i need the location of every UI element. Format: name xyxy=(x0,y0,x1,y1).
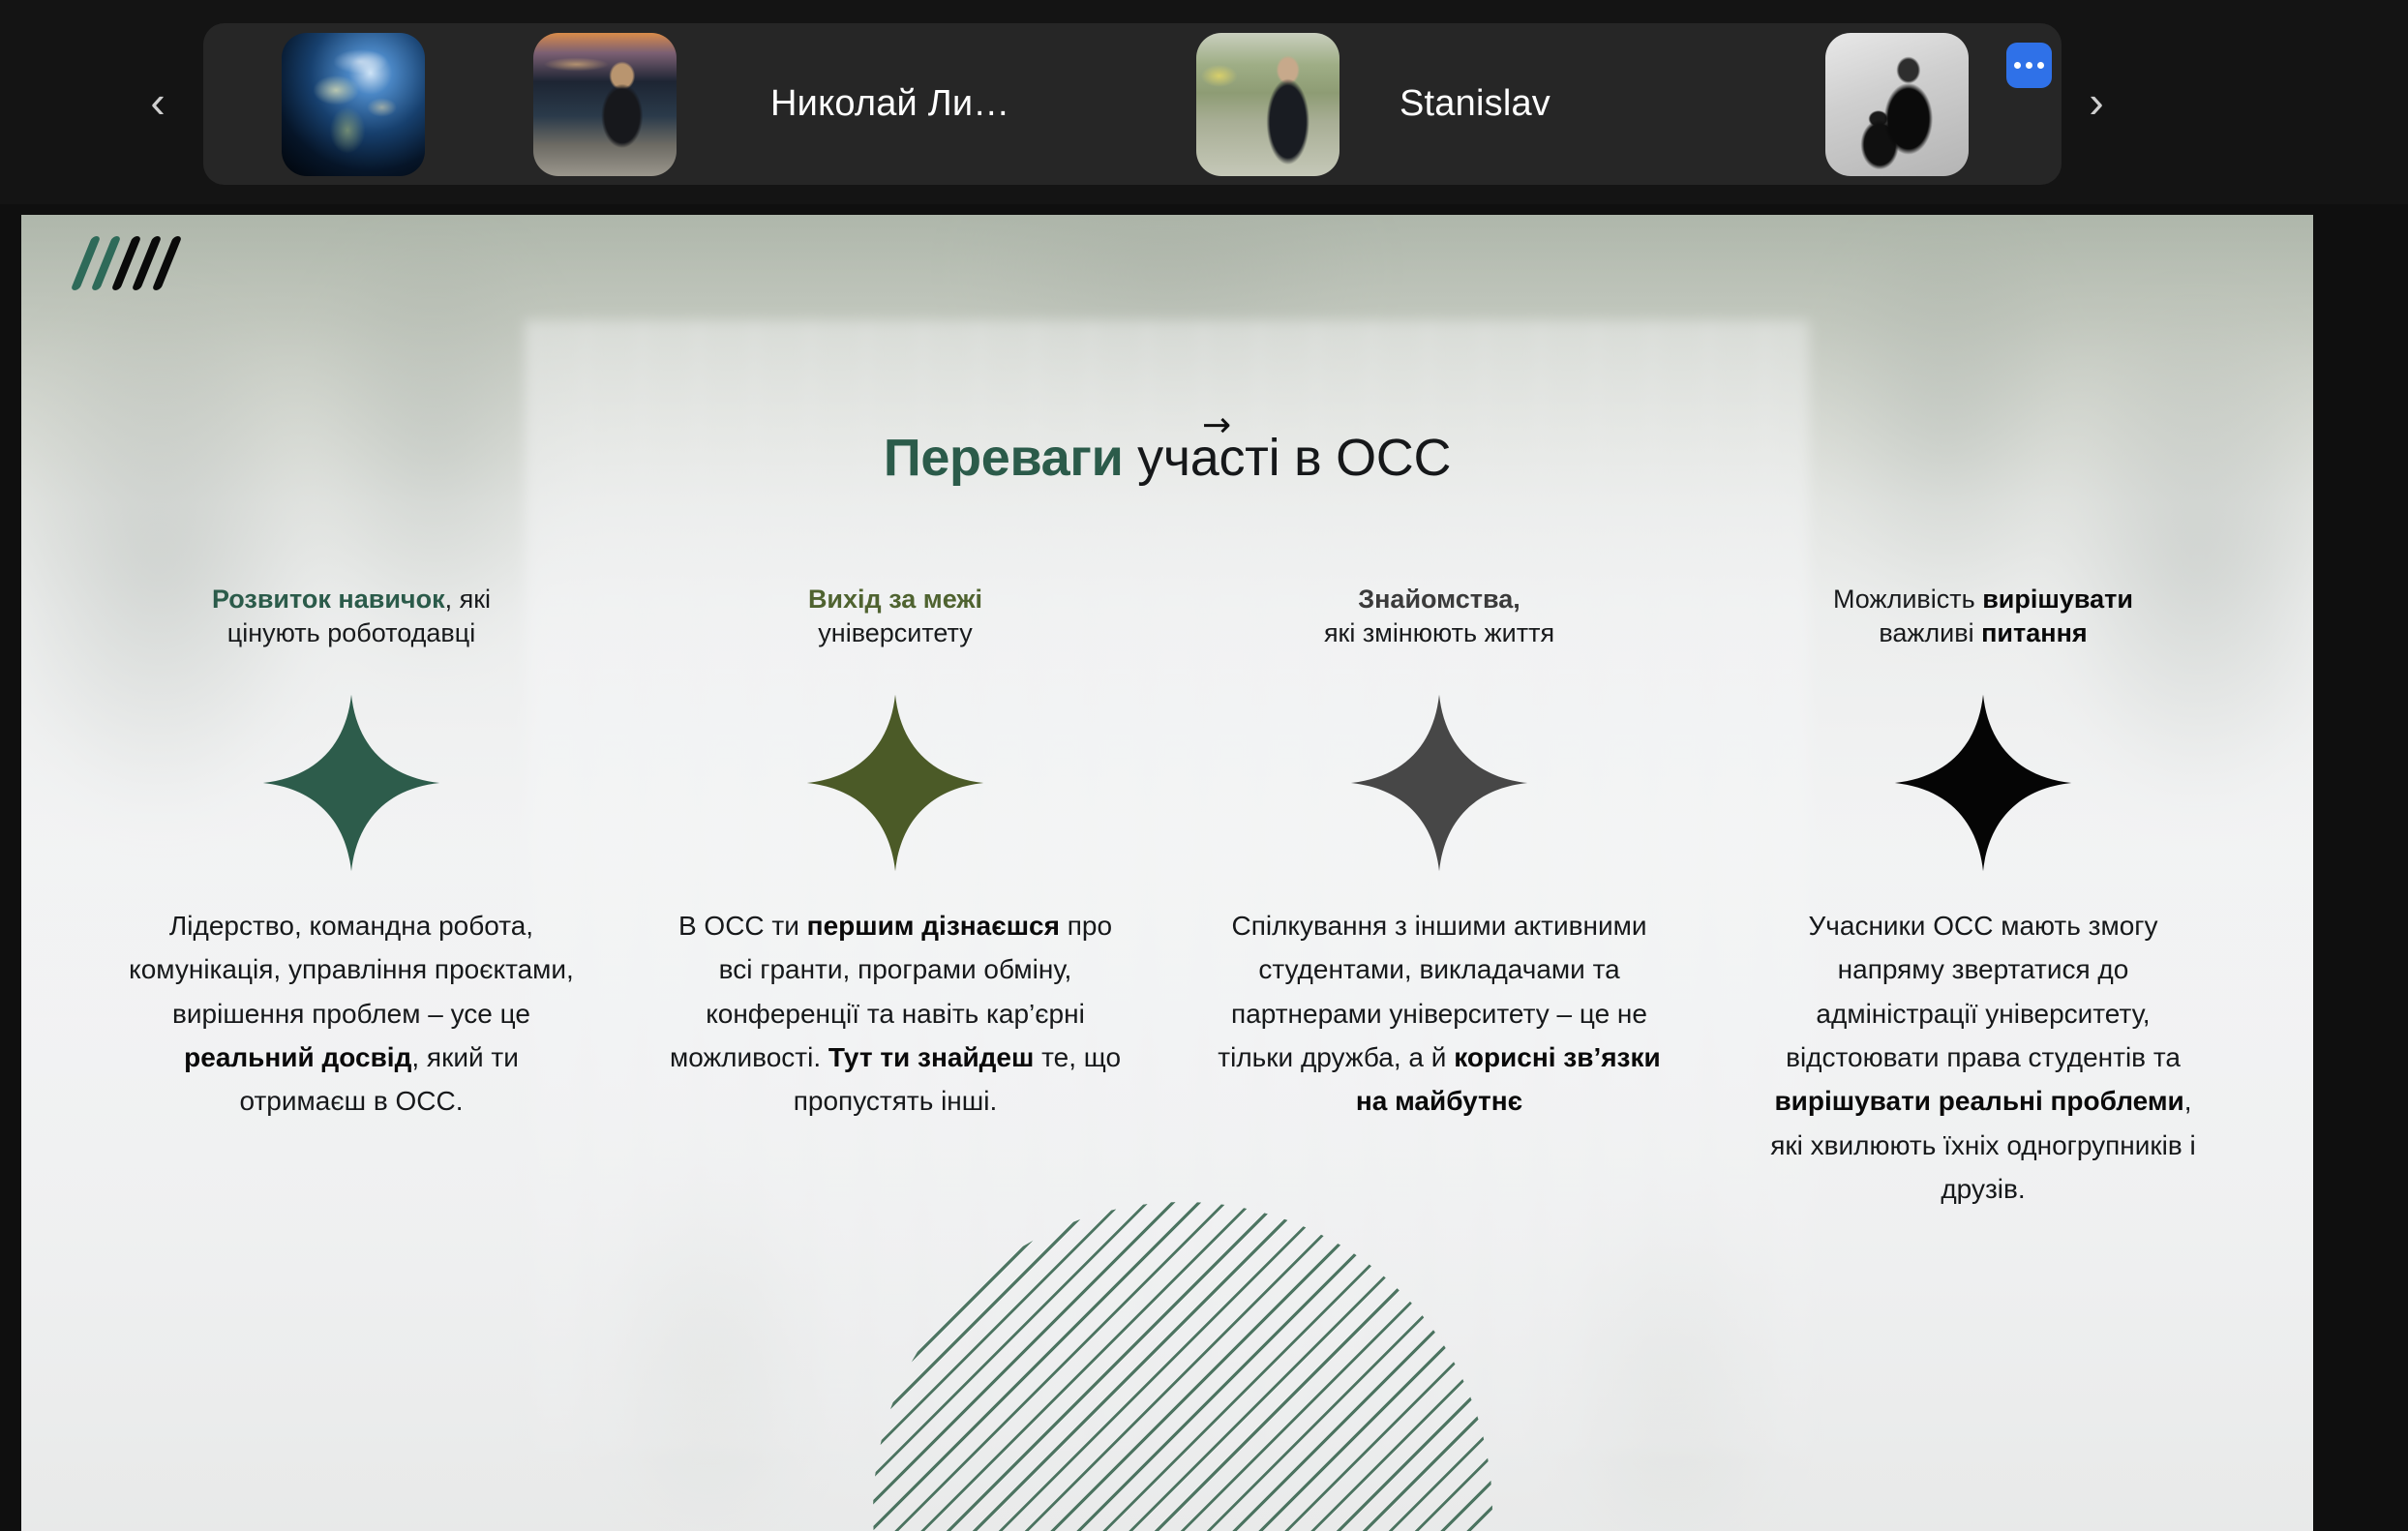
benefit-heading-bold: вирішувати xyxy=(1982,585,2133,614)
decorative-slashes xyxy=(81,236,171,290)
sparkle-icon xyxy=(1891,691,2075,875)
benefit-heading-line2: університету xyxy=(818,618,972,647)
benefit-heading: Знайомства, які змінюють життя xyxy=(1324,583,1554,662)
participant-tile[interactable]: Stanislav xyxy=(1374,23,1994,185)
filmstrip-prev-arrow-icon[interactable]: ‹ xyxy=(128,58,188,145)
dot-icon xyxy=(2026,62,2032,69)
body-text: В ОСС ти xyxy=(678,911,807,941)
video-call-screen: ‹ Николай Ли… Stanislav › xyxy=(0,0,2408,1531)
benefit-heading-rest: , які xyxy=(445,585,491,614)
benefit-body: Спілкування з іншими активними студентам… xyxy=(1212,904,1667,1124)
sparkle-wrap xyxy=(259,662,443,904)
body-text: Лідерство, командна робота, комунікація,… xyxy=(129,911,574,1029)
sparkle-icon xyxy=(1347,691,1531,875)
slide-title-rest: участі в ОСС xyxy=(1123,429,1451,487)
participant-filmstrip: Николай Ли… Stanislav xyxy=(203,23,2062,185)
shared-presentation-slide[interactable]: → Переваги участі в ОСС Розвиток навичок… xyxy=(21,215,2313,1531)
dot-icon xyxy=(2037,62,2044,69)
avatar xyxy=(282,33,425,176)
benefit-column: Вихід за межі університету В ОСС ти перш… xyxy=(647,583,1144,1212)
participant-tile[interactable] xyxy=(494,23,716,185)
benefit-heading-bold: Розвиток навичок xyxy=(212,585,445,614)
participant-name: Stanislav xyxy=(1400,83,1550,125)
participant-tile[interactable] xyxy=(242,23,465,185)
sparkle-wrap xyxy=(1891,662,2075,904)
sparkle-wrap xyxy=(1347,662,1531,904)
participant-filmstrip-bar: ‹ Николай Ли… Stanislav › xyxy=(0,0,2408,204)
participant-name: Николай Ли… xyxy=(770,83,1009,125)
body-text-bold: Тут ти знайдеш xyxy=(828,1042,1034,1072)
dot-icon xyxy=(2014,62,2021,69)
body-text-bold: першим дізнаєшся xyxy=(807,911,1060,941)
benefit-body: Учасники ОСС мають змогу напряму звертат… xyxy=(1756,904,2211,1212)
benefit-columns: Розвиток навичок, які цінують роботодавц… xyxy=(103,583,2242,1212)
benefit-column: Розвиток навичок, які цінують роботодавц… xyxy=(103,583,600,1212)
avatar xyxy=(1825,33,1969,176)
body-text: Учасники ОСС мають змогу напряму звертат… xyxy=(1786,911,2181,1072)
benefit-heading-bold: Знайомства, xyxy=(1358,585,1520,614)
benefit-body: Лідерство, командна робота, комунікація,… xyxy=(124,904,579,1124)
slide-title-accent: Переваги xyxy=(884,429,1124,487)
sparkle-icon xyxy=(803,691,987,875)
more-options-button[interactable] xyxy=(2006,43,2052,88)
avatar xyxy=(533,33,677,176)
benefit-heading-pre: Можливість xyxy=(1833,585,1982,614)
benefit-heading-line2: цінують роботодавці xyxy=(227,618,475,647)
benefit-heading-bold: Вихід за межі xyxy=(808,585,982,614)
benefit-body: В ОСС ти першим дізнаєшся про всі гранти… xyxy=(668,904,1123,1124)
sparkle-icon xyxy=(259,691,443,875)
benefit-heading-line2: які змінюють життя xyxy=(1324,618,1554,647)
participant-tile[interactable]: Николай Ли… xyxy=(745,23,1365,185)
avatar xyxy=(1196,33,1339,176)
filmstrip-next-arrow-icon[interactable]: › xyxy=(2066,58,2126,145)
slide-title: Переваги участі в ОСС xyxy=(21,428,2313,488)
benefit-column: Можливість вирішувати важливі питання Уч… xyxy=(1734,583,2232,1212)
benefit-heading-line2-pre: важливі xyxy=(1879,618,1981,647)
benefit-column: Знайомства, які змінюють життя Спілкуван… xyxy=(1190,583,1688,1212)
benefit-heading: Розвиток навичок, які цінують роботодавц… xyxy=(212,583,491,662)
benefit-heading-line2-bold: питання xyxy=(1981,618,2088,647)
benefit-heading: Можливість вирішувати важливі питання xyxy=(1833,583,2133,662)
sparkle-wrap xyxy=(803,662,987,904)
body-text-bold: реальний досвід xyxy=(184,1042,411,1072)
body-text-bold: вирішувати реальні проблеми xyxy=(1774,1086,2183,1116)
benefit-heading: Вихід за межі університету xyxy=(808,583,982,662)
